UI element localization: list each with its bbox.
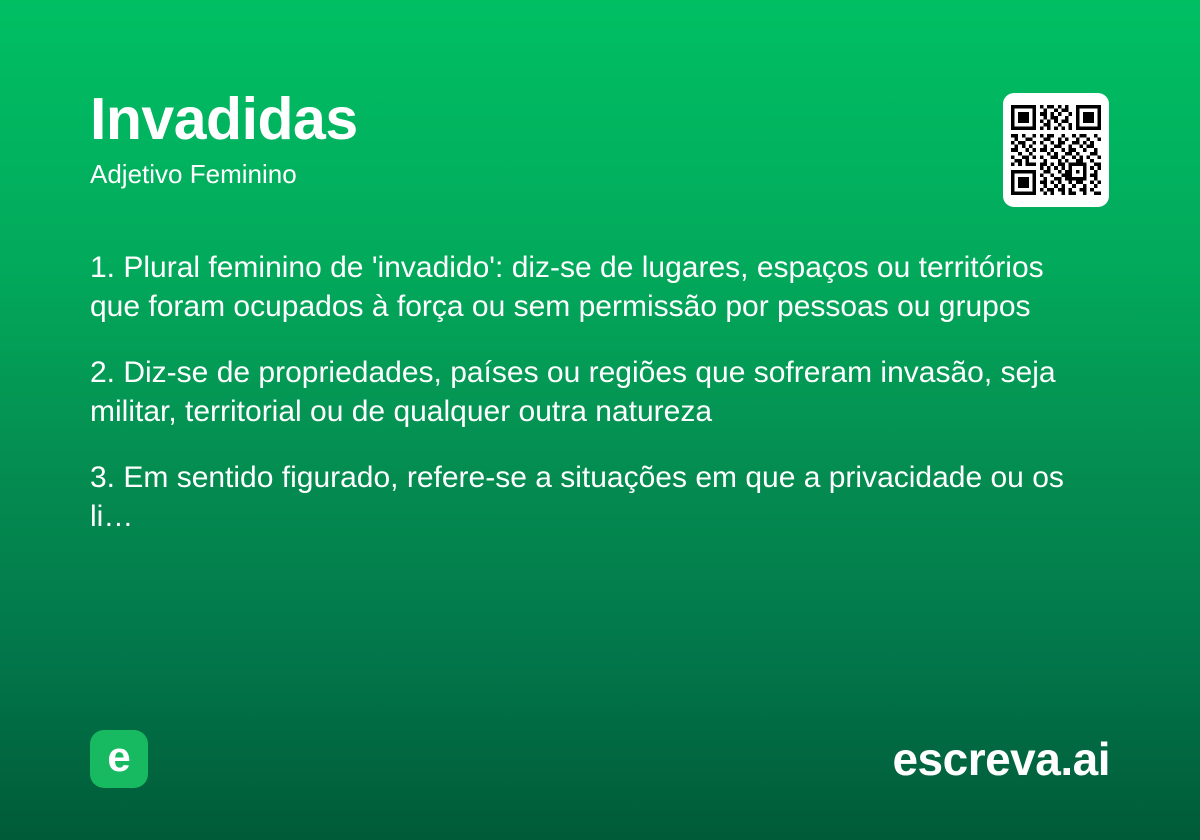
- qr-code-icon: [1011, 101, 1101, 199]
- definition-item: 1. Plural feminino de 'invadido': diz-se…: [90, 248, 1065, 326]
- dictionary-card: Invadidas Adjetivo Feminino: [0, 0, 1200, 840]
- brand-logo: e: [90, 730, 148, 788]
- definition-item: 2. Diz-se de propriedades, países ou reg…: [90, 353, 1065, 431]
- brand-logo-letter: e: [107, 736, 130, 778]
- part-of-speech-label: Adjetivo Feminino: [90, 159, 1110, 190]
- brand-wordmark: escreva.ai: [892, 736, 1110, 782]
- definition-item: 3. Em sentido figurado, refere-se a situ…: [90, 458, 1065, 536]
- card-footer: e escreva.ai: [90, 730, 1110, 788]
- definitions-list: 1. Plural feminino de 'invadido': diz-se…: [90, 248, 1065, 536]
- page-title: Invadidas: [90, 88, 1110, 151]
- card-header: Invadidas Adjetivo Feminino: [90, 88, 1110, 190]
- qr-code-card[interactable]: [1003, 93, 1109, 207]
